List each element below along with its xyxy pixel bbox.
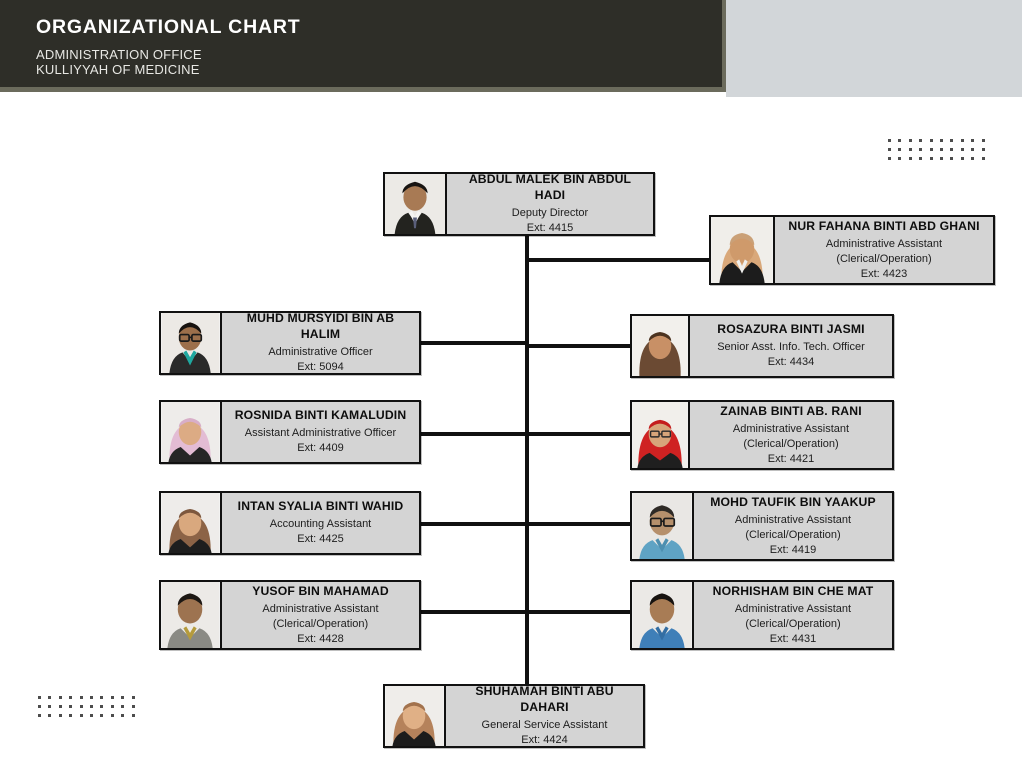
org-card-info-zainab: ZAINAB BINTI AB. RANI Administrative Ass… xyxy=(690,402,892,468)
org-card-rosnida[interactable]: ROSNIDA BINTI KAMALUDIN Assistant Admini… xyxy=(159,400,421,464)
person-name: INTAN SYALIA BINTI WAHID xyxy=(238,499,404,514)
decorative-dot xyxy=(132,714,135,717)
decorative-dot xyxy=(982,157,985,160)
org-card-intan-syalia[interactable]: INTAN SYALIA BINTI WAHID Accounting Assi… xyxy=(159,491,421,555)
decorative-dot xyxy=(940,157,943,160)
decorative-dot-row xyxy=(38,696,142,705)
person-title: Accounting Assistant xyxy=(270,517,372,532)
org-card-rosazura[interactable]: ROSAZURA BINTI JASMI Senior Asst. Info. … xyxy=(630,314,894,378)
org-card-info-nur-fahana: NUR FAHANA BINTI ABD GHANI Administrativ… xyxy=(775,217,993,283)
org-card-info-intan-syalia: INTAN SYALIA BINTI WAHID Accounting Assi… xyxy=(222,493,419,553)
person-name: SHUHAMAH BINTI ABU DAHARI xyxy=(452,684,637,715)
decorative-dot xyxy=(961,157,964,160)
avatar-muhd-mursyidi xyxy=(161,313,222,373)
connector-to-yusof xyxy=(419,610,529,614)
org-card-nur-fahana[interactable]: NUR FAHANA BINTI ABD GHANI Administrativ… xyxy=(709,215,995,285)
connector-to-norhisham xyxy=(525,610,632,614)
avatar-intan-syalia xyxy=(161,493,222,553)
org-card-info-mohd-taufik: MOHD TAUFIK BIN YAAKUP Administrative As… xyxy=(694,493,892,559)
decorative-dot-row xyxy=(888,157,992,166)
decorative-dot xyxy=(888,148,891,151)
connector-to-muhd-mursyidi xyxy=(419,341,529,345)
connector-to-nur-fahana xyxy=(525,258,711,262)
decorative-dot xyxy=(971,139,974,142)
person-name: NORHISHAM BIN CHE MAT xyxy=(713,584,874,599)
decorative-dot xyxy=(90,696,93,699)
page-header: ORGANIZATIONAL CHART ADMINISTRATION OFFI… xyxy=(0,0,1022,97)
decorative-dot xyxy=(59,696,62,699)
decorative-dot xyxy=(121,705,124,708)
decorative-dot xyxy=(982,148,985,151)
decorative-dot xyxy=(90,705,93,708)
header-subtitle-kulliyyah: KULLIYYAH OF MEDICINE xyxy=(36,62,200,77)
avatar-zainab xyxy=(632,402,690,468)
header-light-band: IIUM INTERNATIONAL ISLAMIC UNIVERSITY MA… xyxy=(726,0,1022,97)
decorative-dot xyxy=(59,714,62,717)
person-extension: Ext: 4428 xyxy=(297,632,343,647)
person-name: ROSNIDA BINTI KAMALUDIN xyxy=(235,408,407,423)
org-card-info-rosnida: ROSNIDA BINTI KAMALUDIN Assistant Admini… xyxy=(222,402,419,462)
person-title: Deputy Director xyxy=(512,206,588,221)
person-title-sub: (Clerical/Operation) xyxy=(836,252,931,267)
header-subtitle-office: ADMINISTRATION OFFICE xyxy=(36,47,202,62)
person-title: Administrative Assistant xyxy=(262,602,378,617)
person-extension: Ext: 5094 xyxy=(297,360,343,375)
avatar-rosazura xyxy=(632,316,690,376)
decorative-dot xyxy=(48,696,51,699)
decorative-dot xyxy=(888,157,891,160)
decorative-dot xyxy=(950,148,953,151)
org-card-mohd-taufik[interactable]: MOHD TAUFIK BIN YAAKUP Administrative As… xyxy=(630,491,894,561)
person-name: ROSAZURA BINTI JASMI xyxy=(717,322,864,337)
person-extension: Ext: 4421 xyxy=(768,452,814,467)
decorative-dot xyxy=(48,714,51,717)
decorative-dot xyxy=(100,696,103,699)
person-title-sub: (Clerical/Operation) xyxy=(745,528,840,543)
person-extension: Ext: 4419 xyxy=(770,543,816,558)
connector-spine xyxy=(525,236,529,686)
person-title: Assistant Administrative Officer xyxy=(245,426,396,441)
org-card-info-yusof: YUSOF BIN MAHAMAD Administrative Assista… xyxy=(222,582,419,648)
decorative-dot xyxy=(919,157,922,160)
decorative-dot xyxy=(69,696,72,699)
decorative-dot xyxy=(898,157,901,160)
org-card-info-norhisham: NORHISHAM BIN CHE MAT Administrative Ass… xyxy=(694,582,892,648)
decorative-dot xyxy=(909,139,912,142)
person-title: Senior Asst. Info. Tech. Officer xyxy=(717,340,865,355)
person-title: General Service Assistant xyxy=(482,718,608,733)
decorative-dot xyxy=(950,157,953,160)
avatar-norhisham xyxy=(632,582,694,648)
org-card-norhisham[interactable]: NORHISHAM BIN CHE MAT Administrative Ass… xyxy=(630,580,894,650)
decorative-dot xyxy=(919,148,922,151)
person-extension: Ext: 4423 xyxy=(861,267,907,282)
avatar-mohd-taufik xyxy=(632,493,694,559)
org-card-abdul-malek[interactable]: ABDUL MALEK BIN ABDUL HADI Deputy Direct… xyxy=(383,172,655,236)
decorative-dot xyxy=(950,139,953,142)
decorative-dot xyxy=(80,714,83,717)
person-name: ABDUL MALEK BIN ABDUL HADI xyxy=(453,172,647,203)
decorative-dot xyxy=(930,139,933,142)
org-card-info-shuhamah: SHUHAMAH BINTI ABU DAHARI General Servic… xyxy=(446,686,643,746)
org-card-zainab[interactable]: ZAINAB BINTI AB. RANI Administrative Ass… xyxy=(630,400,894,470)
person-extension: Ext: 4409 xyxy=(297,441,343,456)
person-title-sub: (Clerical/Operation) xyxy=(743,437,838,452)
decorative-dots-top-right xyxy=(888,139,992,166)
connector-to-zainab xyxy=(525,432,632,436)
person-extension: Ext: 4431 xyxy=(770,632,816,647)
person-extension: Ext: 4424 xyxy=(521,733,567,748)
connector-to-mohd-taufik xyxy=(525,522,632,526)
decorative-dot xyxy=(38,696,41,699)
person-name: NUR FAHANA BINTI ABD GHANI xyxy=(788,219,979,234)
org-card-info-abdul-malek: ABDUL MALEK BIN ABDUL HADI Deputy Direct… xyxy=(447,174,653,234)
decorative-dot xyxy=(898,148,901,151)
decorative-dot xyxy=(888,139,891,142)
avatar-nur-fahana xyxy=(711,217,775,283)
decorative-dot xyxy=(121,696,124,699)
decorative-dot xyxy=(111,696,114,699)
decorative-dot-row xyxy=(888,139,992,148)
person-title: Administrative Assistant xyxy=(735,513,851,528)
decorative-dot xyxy=(121,714,124,717)
decorative-dot xyxy=(69,714,72,717)
decorative-dot xyxy=(971,157,974,160)
decorative-dot xyxy=(898,139,901,142)
decorative-dot xyxy=(90,714,93,717)
person-name: YUSOF BIN MAHAMAD xyxy=(252,584,389,599)
decorative-dot xyxy=(100,714,103,717)
decorative-dot xyxy=(80,696,83,699)
decorative-dot xyxy=(38,714,41,717)
avatar-abdul-malek xyxy=(385,174,447,234)
person-title: Administrative Officer xyxy=(268,345,372,360)
person-title-sub: (Clerical/Operation) xyxy=(745,617,840,632)
decorative-dot xyxy=(940,148,943,151)
decorative-dot xyxy=(132,705,135,708)
org-card-shuhamah[interactable]: SHUHAMAH BINTI ABU DAHARI General Servic… xyxy=(383,684,645,748)
header-dark-band: ORGANIZATIONAL CHART ADMINISTRATION OFFI… xyxy=(0,0,726,92)
decorative-dot xyxy=(132,696,135,699)
person-title: Administrative Assistant xyxy=(826,237,942,252)
decorative-dots-bottom-left xyxy=(38,696,142,723)
decorative-dot xyxy=(909,157,912,160)
decorative-dot xyxy=(48,705,51,708)
decorative-dot xyxy=(919,139,922,142)
decorative-dot xyxy=(80,705,83,708)
avatar-rosnida xyxy=(161,402,222,462)
person-extension: Ext: 4434 xyxy=(768,355,814,370)
decorative-dot xyxy=(971,148,974,151)
decorative-dot xyxy=(961,148,964,151)
decorative-dot xyxy=(111,705,114,708)
decorative-dot-row xyxy=(888,148,992,157)
decorative-dot-row xyxy=(38,705,142,714)
decorative-dot xyxy=(940,139,943,142)
connector-to-rosazura xyxy=(525,344,632,348)
decorative-dot xyxy=(982,139,985,142)
decorative-dot xyxy=(961,139,964,142)
person-title: Administrative Assistant xyxy=(735,602,851,617)
person-title-sub: (Clerical/Operation) xyxy=(273,617,368,632)
connector-to-intan-syalia xyxy=(419,522,529,526)
connector-to-rosnida xyxy=(419,432,529,436)
person-title: Administrative Assistant xyxy=(733,422,849,437)
person-extension: Ext: 4425 xyxy=(297,532,343,547)
decorative-dot-row xyxy=(38,714,142,723)
person-name: MOHD TAUFIK BIN YAAKUP xyxy=(710,495,876,510)
org-card-info-muhd-mursyidi: MUHD MURSYIDI BIN AB HALIM Administrativ… xyxy=(222,313,419,373)
decorative-dot xyxy=(909,148,912,151)
org-card-yusof[interactable]: YUSOF BIN MAHAMAD Administrative Assista… xyxy=(159,580,421,650)
decorative-dot xyxy=(59,705,62,708)
decorative-dot xyxy=(930,157,933,160)
decorative-dot xyxy=(930,148,933,151)
decorative-dot xyxy=(38,705,41,708)
person-name: ZAINAB BINTI AB. RANI xyxy=(720,404,862,419)
person-extension: Ext: 4415 xyxy=(527,221,573,236)
decorative-dot xyxy=(111,714,114,717)
avatar-yusof xyxy=(161,582,222,648)
org-card-muhd-mursyidi[interactable]: MUHD MURSYIDI BIN AB HALIM Administrativ… xyxy=(159,311,421,375)
avatar-shuhamah xyxy=(385,686,446,746)
decorative-dot xyxy=(100,705,103,708)
decorative-dot xyxy=(69,705,72,708)
person-name: MUHD MURSYIDI BIN AB HALIM xyxy=(228,311,413,342)
org-card-info-rosazura: ROSAZURA BINTI JASMI Senior Asst. Info. … xyxy=(690,316,892,376)
page-title: ORGANIZATIONAL CHART xyxy=(36,16,300,39)
